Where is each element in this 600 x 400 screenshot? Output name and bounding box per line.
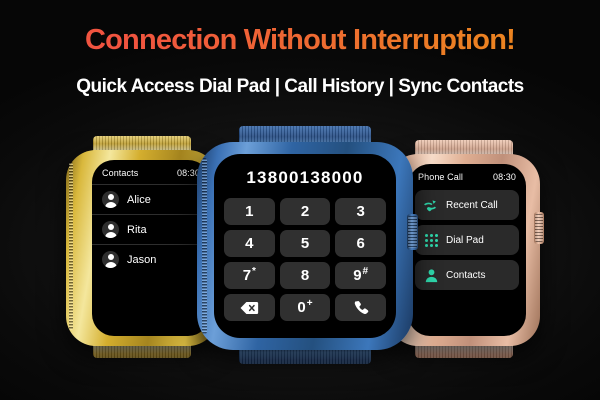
dial-key-0[interactable]: 0+ bbox=[280, 294, 331, 321]
dial-key-sup: + bbox=[307, 298, 313, 309]
watch-screen-dial-pad: 13800138000 1 2 3 4 5 6 7* 8 9# bbox=[214, 154, 396, 338]
dial-key-digit: 2 bbox=[301, 203, 309, 220]
dial-key-digit: 7 bbox=[243, 267, 251, 284]
person-avatar-icon bbox=[102, 251, 119, 268]
dial-key-digit: 9 bbox=[353, 267, 361, 284]
phone-call-screen-header: Phone Call 08:30 bbox=[408, 164, 526, 188]
watch-case-blue: 13800138000 1 2 3 4 5 6 7* 8 9# bbox=[197, 142, 413, 350]
list-item[interactable]: Rita bbox=[92, 214, 210, 244]
recent-call-icon bbox=[423, 197, 439, 213]
person-avatar-icon bbox=[102, 191, 119, 208]
contact-name: Jason bbox=[127, 254, 156, 266]
dialed-number-display: 13800138000 bbox=[214, 154, 396, 198]
menu-item-label: Contacts bbox=[446, 270, 485, 281]
dial-key-backspace[interactable] bbox=[224, 294, 275, 321]
contact-name: Rita bbox=[127, 224, 147, 236]
contact-name: Alice bbox=[127, 194, 151, 206]
smartwatch-gold: Contacts 08:30 Alice Rita Jason bbox=[66, 136, 218, 358]
menu-item-label: Recent Call bbox=[446, 200, 498, 211]
crown-icon[interactable] bbox=[407, 214, 418, 250]
dial-key-7[interactable]: 7* bbox=[224, 262, 275, 289]
dial-key-8[interactable]: 8 bbox=[280, 262, 331, 289]
dial-key-6[interactable]: 6 bbox=[335, 230, 386, 257]
dial-key-digit: 3 bbox=[356, 203, 364, 220]
dial-key-digit: 8 bbox=[301, 267, 309, 284]
menu-item-dial-pad[interactable]: Dial Pad bbox=[415, 225, 519, 255]
dial-key-3[interactable]: 3 bbox=[335, 198, 386, 225]
dial-key-sup: # bbox=[363, 266, 369, 277]
menu-item-label: Dial Pad bbox=[446, 235, 484, 246]
dial-key-1[interactable]: 1 bbox=[224, 198, 275, 225]
watch-screen-contacts: Contacts 08:30 Alice Rita Jason bbox=[92, 160, 210, 336]
dial-key-5[interactable]: 5 bbox=[280, 230, 331, 257]
dial-key-digit: 6 bbox=[356, 235, 364, 252]
list-item[interactable]: Jason bbox=[92, 244, 210, 274]
dial-key-4[interactable]: 4 bbox=[224, 230, 275, 257]
smartwatch-blue: 13800138000 1 2 3 4 5 6 7* 8 9# bbox=[197, 126, 413, 364]
dial-key-digit: 1 bbox=[245, 203, 253, 220]
dial-key-sup: * bbox=[252, 266, 256, 277]
phone-call-menu: Recent Call Dial Pad bbox=[408, 188, 526, 290]
crown-icon[interactable] bbox=[534, 212, 544, 244]
watch-screen-phone-call: Phone Call 08:30 Recent bbox=[408, 164, 526, 336]
phone-call-icon bbox=[353, 300, 369, 316]
page-headline: Connection Without Interruption! bbox=[0, 26, 600, 55]
dial-key-9[interactable]: 9# bbox=[335, 262, 386, 289]
contacts-screen-header: Contacts 08:30 bbox=[92, 160, 210, 184]
dial-key-digit: 4 bbox=[245, 235, 253, 252]
menu-item-contacts[interactable]: Contacts bbox=[415, 260, 519, 290]
contacts-screen-title: Contacts bbox=[102, 168, 138, 178]
dial-key-digit: 0 bbox=[297, 299, 305, 316]
backspace-icon bbox=[240, 301, 259, 315]
person-avatar-icon bbox=[102, 221, 119, 238]
contacts-person-icon bbox=[423, 267, 439, 283]
promo-banner: Connection Without Interruption! Quick A… bbox=[0, 0, 600, 400]
phone-call-screen-title: Phone Call bbox=[418, 172, 463, 182]
list-item[interactable]: Alice bbox=[92, 184, 210, 214]
dial-key-call[interactable] bbox=[335, 294, 386, 321]
dial-pad-grid-icon bbox=[423, 232, 439, 248]
page-subheadline: Quick Access Dial Pad | Call History | S… bbox=[0, 76, 600, 98]
phone-call-screen-time: 08:30 bbox=[493, 172, 516, 182]
dial-key-2[interactable]: 2 bbox=[280, 198, 331, 225]
watch-case-gold: Contacts 08:30 Alice Rita Jason bbox=[66, 150, 218, 346]
menu-item-recent-call[interactable]: Recent Call bbox=[415, 190, 519, 220]
dial-pad-keypad: 1 2 3 4 5 6 7* 8 9# bbox=[214, 198, 396, 321]
dial-key-digit: 5 bbox=[301, 235, 309, 252]
